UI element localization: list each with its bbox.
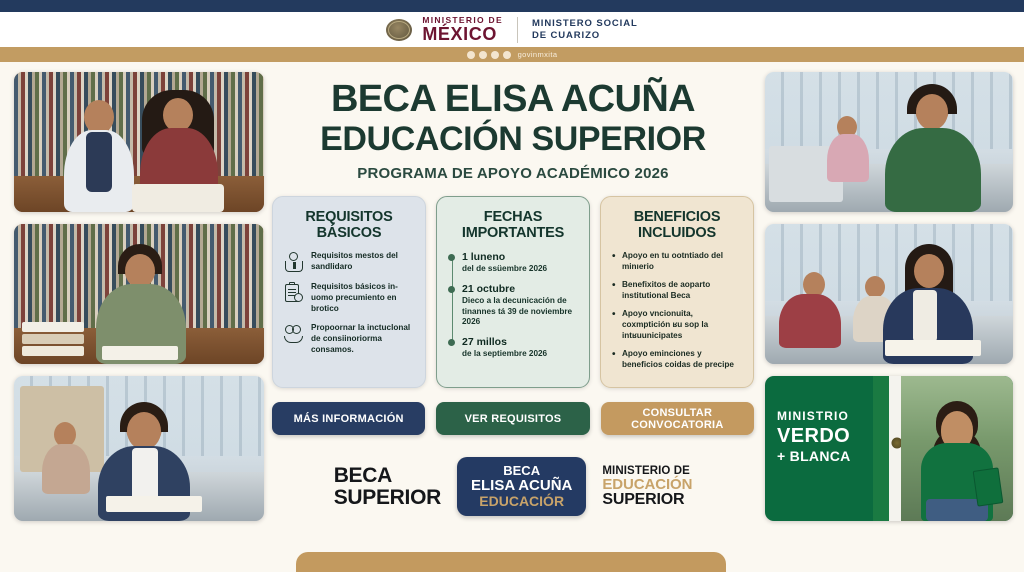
beca-superior-line2: SUPERIOR — [334, 487, 441, 508]
timeline-item: 21 octubre Dieco a la decunicación de ti… — [462, 283, 578, 328]
photo-female-student-flag — [901, 376, 1013, 521]
photo-classroom-female-writing — [765, 224, 1013, 364]
beca-superior-logo: BECA SUPERIOR — [334, 465, 441, 508]
top-navy-bar — [0, 0, 1024, 12]
timeline-desc: de la septiembre 2026 — [462, 349, 578, 360]
ministerio-small-label: MINISTERIO DE — [422, 16, 503, 25]
card-3-title-line1: BENEFICIOS — [612, 209, 742, 225]
green-panel-ministrio-verdo: MINISTRIO VERDO + BLANCA — [765, 376, 1013, 521]
requisito-item: Propoornar la inctuclonal de consiinorio… — [284, 323, 414, 355]
timeline-item: 27 millos de la septiembre 2026 — [462, 336, 578, 360]
consultar-convocatoria-button[interactable]: CONSULTAR CONVOCATORIA — [601, 402, 754, 435]
list-item: Benefixitos de aoparto institutional Bec… — [612, 280, 742, 302]
dates-timeline: 1 luneno del de ssüembre 2026 21 octubre… — [448, 251, 578, 359]
ministerio-wordmark: MINISTERIO DE MÉXICO — [422, 16, 503, 44]
list-item: Apoyo vncionuita, coxmptición ʁu sop la … — [612, 309, 742, 342]
photo-library-male-student — [14, 224, 264, 364]
ver-requisitos-button[interactable]: VER REQUISITOS — [436, 402, 589, 435]
card-beneficios-incluidos: BENEFICIOS INCLUIDOS Apoyo en tu ootntia… — [600, 196, 754, 389]
cta-button-row: MÁS INFORMACIÓN VER REQUISITOS CONSULTAR… — [272, 402, 754, 435]
card-1-title-line2: BÁSICOS — [284, 225, 414, 241]
timeline-dot-icon — [448, 254, 455, 261]
card-1-title-line1: REQUISITOS — [284, 209, 414, 225]
government-header: MINISTERIO DE MÉXICO MINISTERO SOCIAL DE… — [0, 12, 1024, 47]
facebook-icon[interactable] — [479, 51, 487, 59]
right-photo-column: MINISTRIO VERDO + BLANCA — [765, 72, 1013, 521]
clipboard-check-icon — [284, 283, 304, 303]
photo-classroom-laptop-student — [765, 72, 1013, 212]
hero-title-block: BECA ELISA ACUÑA EDUCACIÓN SUPERIOR PROG… — [272, 72, 754, 182]
card-2-title: FECHAS IMPORTANTES — [448, 209, 578, 241]
bottom-gold-bar — [296, 552, 726, 572]
photo-classroom-male-glasses — [14, 376, 264, 521]
timeline-date: 21 octubre — [462, 283, 578, 295]
mas-informacion-button[interactable]: MÁS INFORMACIÓN — [272, 402, 425, 435]
card-fechas-importantes: FECHAS IMPORTANTES 1 luneno del de ssüem… — [436, 196, 590, 389]
instagram-icon[interactable] — [467, 51, 475, 59]
timeline-dot-icon — [448, 286, 455, 293]
green-panel-text: MINISTRIO VERDO + BLANCA — [777, 410, 851, 465]
list-item: Apoyo eminciones y beneficios coidas de … — [612, 349, 742, 371]
requisito-item: Requisitos mestos del sandlidaro — [284, 251, 414, 273]
youtube-icon[interactable] — [503, 51, 511, 59]
requisito-text: Requisitos básicos in-uomo precumiento e… — [311, 282, 414, 314]
hand-money-icon — [284, 324, 304, 344]
beca-elisa-acuna-badge: BECA ELISA ACUÑA EDUCACIÓR — [457, 457, 586, 516]
beca-superior-line1: BECA — [334, 465, 441, 486]
ministerio-educacion-logo: MINISTERIO DE EDUCACIÓN SUPERIOR — [602, 465, 692, 510]
green-panel-line1: MINISTRIO — [777, 410, 851, 423]
social-handle-label: govinmxita — [518, 50, 558, 59]
list-item: Apoyo en tu ootntiado del minıerio — [612, 251, 742, 273]
card-2-title-line2: IMPORTANTES — [448, 225, 578, 241]
timeline-date: 27 millos — [462, 336, 578, 348]
left-photo-column — [14, 72, 264, 533]
card-1-title: REQUISITOS BÁSICOS — [284, 209, 414, 241]
requisito-item: Requisitos básicos in-uomo precumiento e… — [284, 282, 414, 314]
hero-subtitle: PROGRAMA DE APOYO ACADÉMICO 2026 — [272, 165, 754, 182]
requisito-text: Requisitos mestos del sandlidaro — [311, 251, 414, 273]
twitter-icon[interactable] — [491, 51, 499, 59]
timeline-item: 1 luneno del de ssüembre 2026 — [462, 251, 578, 275]
photo-library-two-students — [14, 72, 264, 212]
badge-line2: ELISA ACUÑA — [471, 478, 572, 494]
requisito-text: Propoornar la inctuclonal de consiinorio… — [311, 323, 414, 355]
beneficios-list: Apoyo en tu ootntiado del minıerio Benef… — [612, 251, 742, 370]
green-panel-line3: + BLANCA — [777, 449, 851, 464]
footer-logo-row: BECA SUPERIOR BECA ELISA ACUÑA EDUCACIÓR… — [272, 457, 754, 516]
ministero-social-line2: DE CUARIZO — [532, 30, 638, 42]
timeline-desc: Dieco a la decunicación de tinannes tá 3… — [462, 296, 578, 328]
badge-line3: EDUCACIÓR — [471, 494, 572, 509]
card-requisitos-basicos: REQUISITOS BÁSICOS Requisitos mestos del… — [272, 196, 426, 389]
info-cards-row: REQUISITOS BÁSICOS Requisitos mestos del… — [272, 196, 754, 389]
ministerio-logo-line3: SUPERIOR — [602, 492, 692, 509]
social-bar: govinmxita — [0, 47, 1024, 62]
timeline-desc: del de ssüembre 2026 — [462, 264, 578, 275]
timeline-dot-icon — [448, 339, 455, 346]
card-3-title-line2: INCLUIDOS — [612, 225, 742, 241]
timeline-date: 1 luneno — [462, 251, 578, 263]
card-2-title-line1: FECHAS — [448, 209, 578, 225]
ministero-social-line1: MINISTERO SOCIAL — [532, 18, 638, 30]
header-divider — [517, 17, 518, 43]
green-panel-line2: VERDO — [777, 425, 851, 447]
poster-page: MINISTERIO DE MÉXICO MINISTERO SOCIAL DE… — [0, 0, 1024, 572]
card-3-title: BENEFICIOS INCLUIDOS — [612, 209, 742, 241]
ministerio-logo-line1: MINISTERIO DE — [602, 465, 692, 477]
hero-title-line2: EDUCACIÓN SUPERIOR — [272, 121, 754, 157]
person-icon — [284, 252, 304, 272]
ministerio-big-label: MÉXICO — [422, 25, 503, 43]
ministero-social-block: MINISTERO SOCIAL DE CUARIZO — [532, 18, 638, 41]
mexican-eagle-seal-icon — [386, 19, 412, 41]
center-content: BECA ELISA ACUÑA EDUCACIÓN SUPERIOR PROG… — [272, 72, 754, 516]
hero-title-line1: BECA ELISA ACUÑA — [272, 80, 754, 119]
ministerio-logo-line2: EDUCACIÓN — [602, 477, 692, 493]
